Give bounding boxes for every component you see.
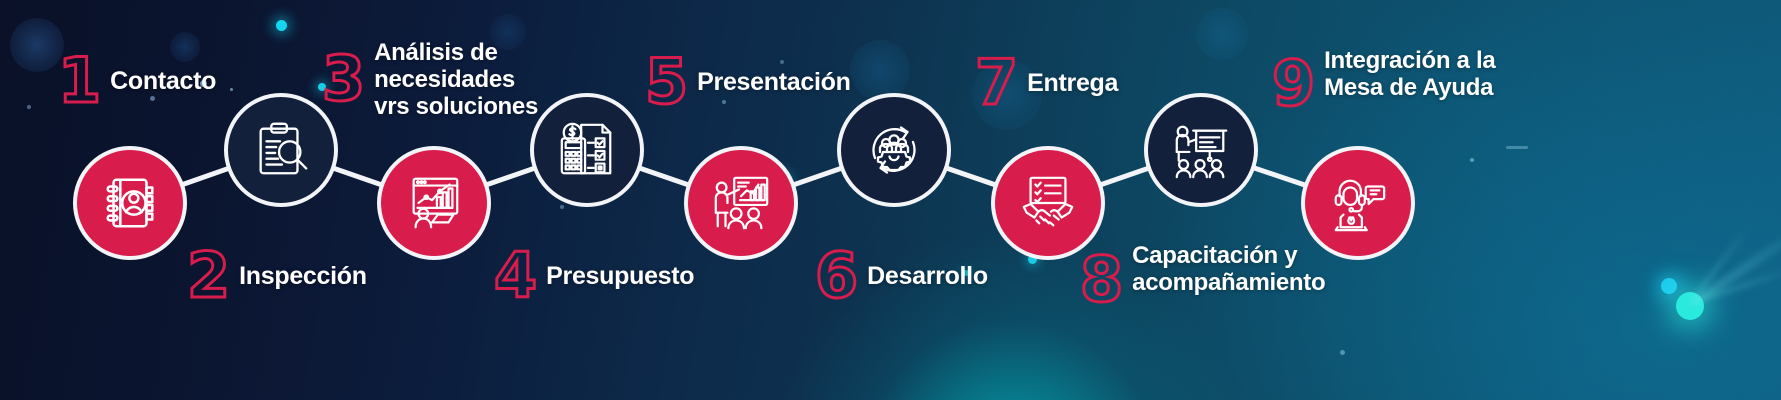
step-number-6: 6 [815,245,857,307]
step-number-8: 8 [1080,249,1122,311]
step-label-9: 9 Integración a la Mesa de Ayuda [1272,48,1495,115]
step-title-8: Capacitación y acompañamiento [1132,243,1325,297]
step-label-7: 7 Entrega [975,52,1118,114]
team-gear-cycle-icon [862,118,926,182]
step-number-7: 7 [975,52,1017,114]
step-label-3: 3 Análisis de necesidades vrs soluciones [322,40,538,121]
step-label-8: 8 Capacitación y acompañamiento [1080,243,1325,311]
growth-chart-presenter-icon [403,172,465,234]
infographic-canvas: 1 Contacto 2 Inspección 3 Análisis de ne… [0,0,1781,400]
step-label-2: 2 Inspección [187,245,367,307]
step-number-5: 5 [645,51,687,113]
step-node-2[interactable] [224,93,338,207]
step-node-8[interactable] [1144,93,1258,207]
training-whiteboard-audience-icon [1170,119,1232,181]
step-title-3-line-1: Análisis de [374,39,497,66]
handshake-checklist-icon [1017,172,1079,234]
address-book-contact-icon [99,172,161,234]
step-title-1: Contacto [110,67,216,95]
step-title-8-line-1: Capacitación y [1132,242,1297,269]
step-number-2: 2 [187,245,229,307]
clipboard-magnifier-icon [250,119,312,181]
headset-support-agent-icon [1327,172,1389,234]
step-title-9: Integración a la Mesa de Ayuda [1324,48,1495,102]
step-title-8-line-2: acompañamiento [1132,269,1325,296]
step-title-2: Inspección [239,262,367,290]
step-title-4: Presupuesto [546,262,694,290]
step-number-4: 4 [494,245,536,307]
step-title-9-line-2: Mesa de Ayuda [1324,74,1493,101]
step-label-5: 5 Presentación [645,51,851,113]
step-title-9-line-1: Integración a la [1324,47,1495,74]
step-number-1: 1 [58,50,100,112]
step-label-4: 4 Presupuesto [494,245,694,307]
step-node-3[interactable] [377,146,491,260]
step-title-3: Análisis de necesidades vrs soluciones [374,40,538,121]
step-node-1[interactable] [73,146,187,260]
step-number-9: 9 [1272,53,1314,115]
step-label-6: 6 Desarrollo [815,245,988,307]
step-label-1: 1 Contacto [58,50,216,112]
step-title-7: Entrega [1027,69,1118,97]
step-chain [0,0,1781,400]
step-title-3-line-3: vrs soluciones [374,93,538,120]
calculator-invoice-icon [556,119,618,181]
step-node-4[interactable] [530,93,644,207]
step-title-6: Desarrollo [867,262,988,290]
step-number-3: 3 [322,48,364,110]
step-title-3-line-2: necesidades [374,66,515,93]
presenter-board-audience-icon [710,172,772,234]
step-node-6[interactable] [837,93,951,207]
step-title-5: Presentación [697,68,850,96]
step-node-5[interactable] [684,146,798,260]
